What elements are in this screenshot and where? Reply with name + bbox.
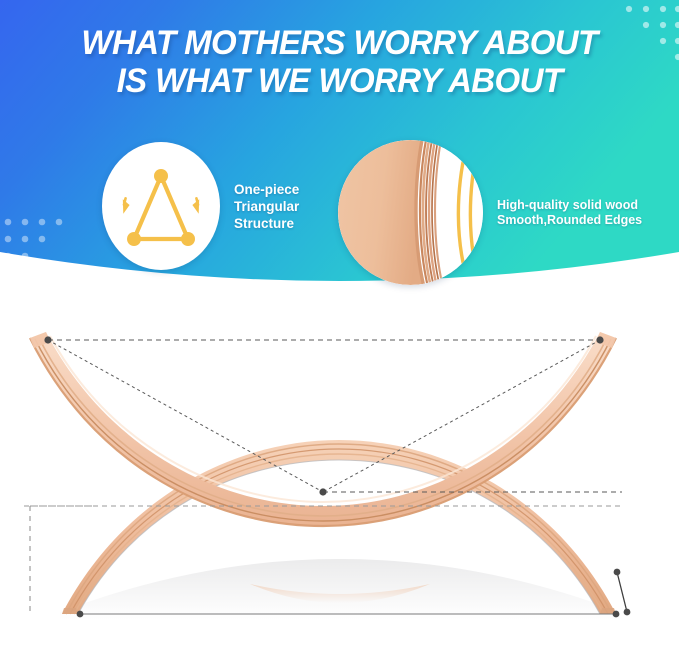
feature-one-piece: One-piece Triangular Structure	[102, 142, 299, 270]
badge-circle-triangle	[102, 142, 220, 270]
feature-solid-wood-label: High-quality solid wood Smooth,Rounded E…	[497, 198, 642, 228]
product-infographic: WHAT MOTHERS WORRY ABOUT IS WHAT WE WORR…	[0, 0, 679, 646]
feature-line-1: One-piece	[234, 181, 299, 198]
arrow-right-icon	[191, 197, 202, 215]
feature-line-3: Structure	[234, 215, 299, 232]
feature-line-2: Smooth,Rounded Edges	[497, 213, 642, 228]
balance-board-diagram	[0, 292, 679, 646]
arrow-left-icon	[119, 197, 130, 215]
header-banner: WHAT MOTHERS WORRY ABOUT IS WHAT WE WORR…	[0, 0, 679, 300]
product-photo-with-dimensions: 0.66 inches 9.2 inches 42 inches 36.6 in…	[0, 292, 679, 646]
triangle-structure-icon	[102, 142, 220, 270]
wood-edge-photo-icon	[338, 140, 483, 285]
badge-circle-wood	[338, 140, 483, 285]
feature-line-1: High-quality solid wood	[497, 198, 642, 213]
feature-solid-wood: High-quality solid wood Smooth,Rounded E…	[338, 140, 642, 285]
feature-one-piece-label: One-piece Triangular Structure	[234, 181, 299, 232]
feature-line-2: Triangular	[234, 198, 299, 215]
